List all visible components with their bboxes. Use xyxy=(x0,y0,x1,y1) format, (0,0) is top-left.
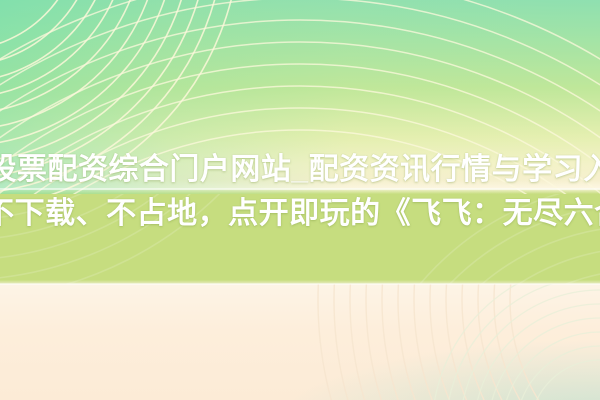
banner-headline: 金华股票配资综合门户网站_配资资讯行情与学习入口汇总 不下载、不占地，点开即玩的… xyxy=(0,148,600,236)
background-cream-wash xyxy=(0,284,600,400)
promotional-banner: 金华股票配资综合门户网站_配资资讯行情与学习入口汇总 不下载、不占地，点开即玩的… xyxy=(0,0,600,400)
